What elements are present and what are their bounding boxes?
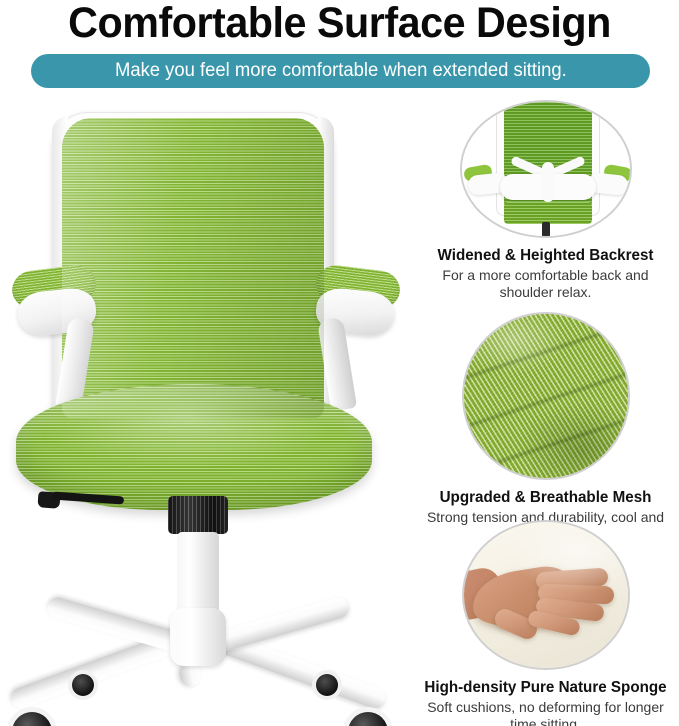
caster-rear-right <box>316 674 338 696</box>
mesh-weave-texture <box>464 314 628 478</box>
feature-title-sponge: High-density Pure Nature Sponge <box>415 678 677 698</box>
office-chair-hero-image <box>0 96 415 726</box>
subtitle-text: Make you feel more comfortable when exte… <box>115 60 567 82</box>
feature-item-backrest: Widened & Heighted Backrest For a more c… <box>412 100 679 301</box>
caster-left <box>12 712 52 726</box>
feature-item-mesh: Upgraded & Breathable Mesh Strong tensio… <box>412 312 679 543</box>
feature-item-sponge: High-density Pure Nature Sponge Soft cus… <box>412 520 679 726</box>
foam-highlight <box>464 522 628 668</box>
backrest-photo-seat-edge <box>504 202 592 224</box>
feature-description-backrest: For a more comfortable back and shoulder… <box>412 267 679 301</box>
backrest-photo-center-bar <box>542 162 554 202</box>
feature-image-backrest <box>460 100 632 238</box>
backrest-mesh-panel <box>62 118 324 418</box>
product-feature-page: Comfortable Surface Design Make you feel… <box>0 0 679 726</box>
feature-list: Widened & Heighted Backrest For a more c… <box>412 100 679 726</box>
backrest-photo-stem <box>542 222 550 238</box>
feature-title-backrest: Widened & Heighted Backrest <box>415 246 677 266</box>
base-hub <box>170 608 226 666</box>
seat-cushion <box>16 384 372 510</box>
subtitle-banner: Make you feel more comfortable when exte… <box>31 54 650 88</box>
caster-right <box>348 712 388 726</box>
page-title: Comfortable Surface Design <box>14 0 666 48</box>
feature-title-mesh: Upgraded & Breathable Mesh <box>415 488 677 508</box>
gas-cylinder-column <box>177 532 219 618</box>
feature-image-mesh <box>462 312 630 480</box>
feature-description-sponge: Soft cushions, no deforming for longer t… <box>412 699 679 726</box>
feature-image-sponge <box>462 520 630 670</box>
caster-rear-left <box>72 674 94 696</box>
